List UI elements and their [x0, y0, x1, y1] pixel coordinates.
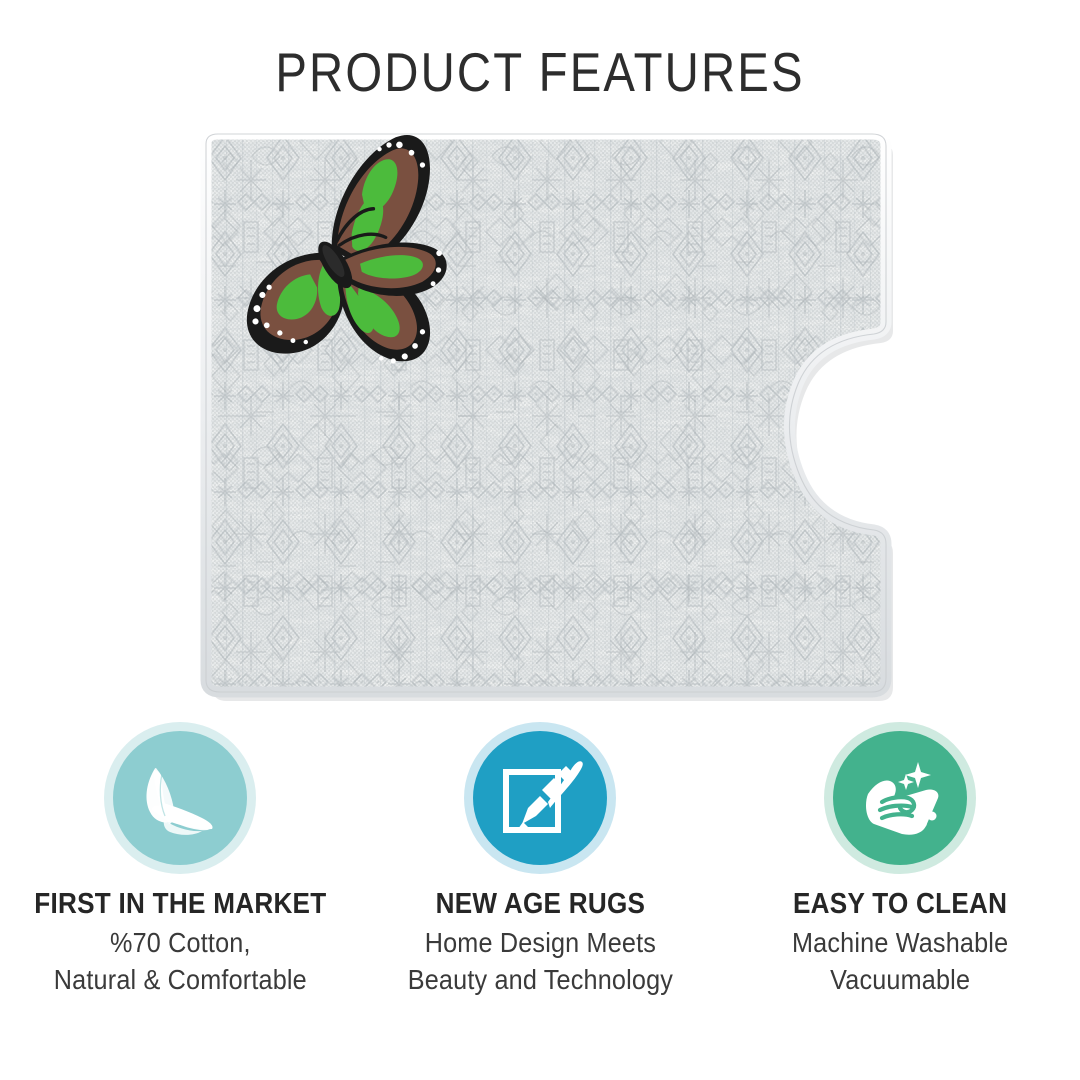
feature-badge-easy-to-clean[interactable]	[824, 722, 976, 874]
feature-heading: FIRST IN THE MARKET	[34, 890, 326, 919]
feature-line-1: %70 Cotton,	[34, 929, 326, 957]
page-title: PRODUCT FEATURES	[76, 40, 1005, 104]
feather-icon	[132, 750, 228, 846]
pencil-brush-frame-icon	[492, 750, 588, 846]
hand-wiping-cloth-sparkle-icon	[852, 750, 948, 846]
feature-caption: EASY TO CLEAN Machine Washable Vacuumabl…	[780, 890, 1020, 994]
feature-caption: NEW AGE RUGS Home Design Meets Beauty an…	[393, 890, 688, 994]
feature-line-2: Beauty and Technology	[407, 966, 672, 994]
feature-easy-to-clean: EASY TO CLEAN Machine Washable Vacuumabl…	[720, 722, 1080, 1080]
feature-line-2: Vacuumable	[792, 966, 1008, 994]
feature-line-2: Natural & Comfortable	[34, 966, 326, 994]
feature-line-1: Home Design Meets	[407, 929, 672, 957]
features-row: FIRST IN THE MARKET %70 Cotton, Natural …	[0, 722, 1080, 1080]
feature-line-1: Machine Washable	[792, 929, 1008, 957]
feature-heading: NEW AGE RUGS	[407, 890, 672, 919]
feature-new-age-rugs: NEW AGE RUGS Home Design Meets Beauty an…	[360, 722, 720, 1080]
product-features-infographic: PRODUCT FEATURES	[0, 0, 1080, 1080]
feature-heading: EASY TO CLEAN	[792, 890, 1008, 919]
product-image-contour-bath-mat	[196, 126, 896, 702]
feature-badge-new-age-rugs[interactable]	[464, 722, 616, 874]
feature-first-in-the-market: FIRST IN THE MARKET %70 Cotton, Natural …	[0, 722, 360, 1080]
feature-caption: FIRST IN THE MARKET %70 Cotton, Natural …	[18, 890, 343, 994]
feature-badge-first-in-the-market[interactable]	[104, 722, 256, 874]
